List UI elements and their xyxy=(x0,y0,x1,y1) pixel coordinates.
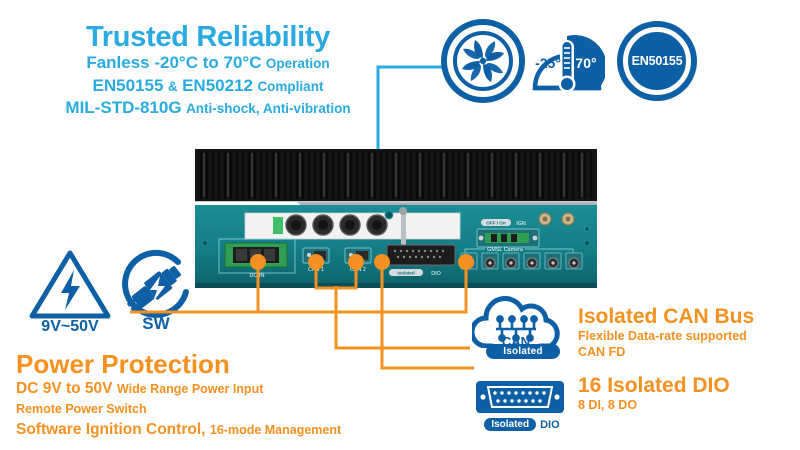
power-line-2-light: Remote Power Switch xyxy=(16,402,147,416)
reliability-text-block: Trusted Reliability Fanless -20°C to 70°… xyxy=(8,22,408,120)
power-line-1-light: Wide Range Power Input xyxy=(117,382,263,396)
reliability-line-1: Fanless -20°C to 70°C Operation xyxy=(8,52,408,74)
power-line-1-strong: DC 9V to 50V xyxy=(16,380,112,397)
reliability-line-3-strong: MIL-STD-810G xyxy=(65,98,181,117)
power-line-1: DC 9V to 50V Wide Range Power Input xyxy=(16,379,436,400)
power-protection-text-block: Power Protection DC 9V to 50V Wide Range… xyxy=(16,350,436,441)
power-line-3-light: 16-mode Management xyxy=(210,423,341,437)
can-bus-text-block: Isolated CAN Bus Flexible Data-rate supp… xyxy=(578,305,800,361)
port-label-ignition-off-on: OFF / On xyxy=(486,221,506,226)
reliability-line-3-light: Anti-shock, Anti-vibration xyxy=(186,101,351,116)
can-line-2: CAN FD xyxy=(578,344,800,360)
dio-text-block: 16 Isolated DIO 8 DI, 8 DO xyxy=(578,374,800,413)
reliability-line-2: EN50155 & EN50212 Compliant xyxy=(8,75,408,97)
power-line-3-strong: Software Ignition Control, xyxy=(16,421,205,438)
temp-low-label: -25° xyxy=(535,55,561,71)
can-isolated-badge: Isolated xyxy=(486,344,560,359)
reliability-line-2-light: Compliant xyxy=(257,79,323,94)
can-bus-title: Isolated CAN Bus xyxy=(578,305,800,328)
certification-badge-icon: EN50155 xyxy=(626,30,688,92)
can-line-1: Flexible Data-rate supported xyxy=(578,328,800,344)
reliability-line-1-strong: Fanless -20°C to 70°C xyxy=(86,53,261,72)
reliability-line-2-amp: & xyxy=(168,79,178,94)
dio-icon-label: DIO xyxy=(540,419,560,431)
power-line-2: Remote Power Switch xyxy=(16,399,436,420)
temp-high-label: 70° xyxy=(575,55,596,71)
dio-isolated-badge: Isolated xyxy=(484,418,536,431)
dio-title: 16 Isolated DIO xyxy=(578,374,800,397)
dio-icon-caption: Isolated DIO xyxy=(466,418,578,431)
port-label-ignition-ign: IGN xyxy=(516,221,526,227)
can-cloud-icon: CAN xyxy=(472,296,576,348)
badge-fanless xyxy=(441,19,525,103)
badge-certification: EN50155 xyxy=(617,21,697,101)
reliability-line-3: MIL-STD-810G Anti-shock, Anti-vibration xyxy=(8,97,408,119)
power-protection-title: Power Protection xyxy=(16,350,436,379)
fan-icon xyxy=(453,31,513,91)
power-line-3: Software Ignition Control, 16-mode Manag… xyxy=(16,420,436,441)
dio-subtitle: 8 DI, 8 DO xyxy=(578,397,800,413)
dsub-connector-icon xyxy=(474,378,566,416)
reliability-title: Trusted Reliability xyxy=(8,22,408,52)
reliability-line-2-strong-2: EN50212 xyxy=(182,76,253,95)
thermometer-gauge-icon: -25° 70° xyxy=(529,24,605,100)
reliability-line-1-light: Operation xyxy=(266,56,330,71)
reliability-line-2-strong: EN50155 xyxy=(93,76,164,95)
certification-label: EN50155 xyxy=(632,54,683,68)
infographic-canvas: Trusted Reliability Fanless -20°C to 70°… xyxy=(0,0,800,450)
badge-temperature-range: -25° 70° xyxy=(529,24,605,100)
